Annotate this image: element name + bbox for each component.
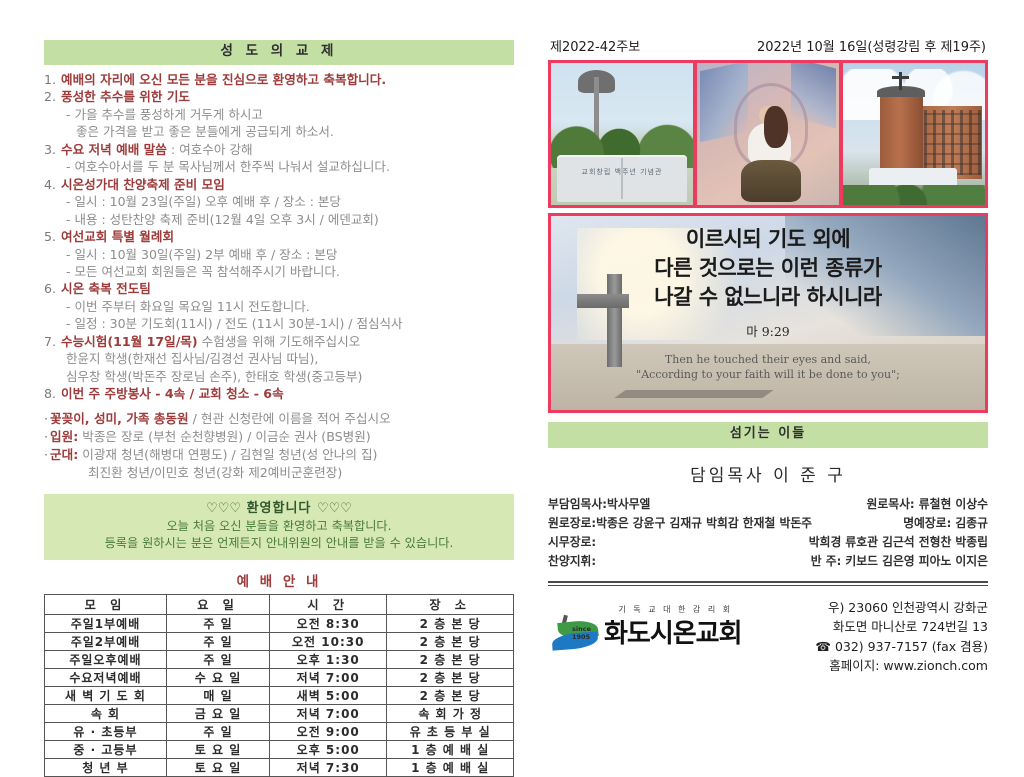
table-row: 주일오후예배 주 일 오후 1:30 2 층 본 당 (45, 650, 514, 668)
announcement-heading-tail: : 여호수아 강해 (167, 142, 253, 157)
announcement-heading: 풍성한 추수를 위한 기도 (61, 89, 190, 104)
announcement-subline: 심우창 학생(박돈주 장로님 손주), 한태호 학생(중고등부) (44, 368, 514, 385)
announcement-number: 2. (44, 88, 61, 106)
cell-time: 저녁 7:00 (270, 668, 387, 686)
announcement-item-6: 6.시온 축복 전도팀 (44, 280, 514, 298)
announcement-item-7: 7.수능시험(11월 17일/목) 수험생을 위해 기도해주십시오 (44, 333, 514, 351)
address-line-2: 화도면 마니산로 724번길 13 (773, 617, 988, 637)
logo-main: since 1905 화도시온교회 (548, 615, 773, 653)
cell-day: 주 일 (166, 650, 269, 668)
staff-value: 김종규 (951, 516, 988, 530)
church-building-photo (843, 63, 985, 205)
verse-banner: 이르시되 기도 외에 다른 것으로는 이런 종류가 나갈 수 없느니라 하시니라… (548, 213, 988, 413)
cell-place: 2 층 본 당 (387, 614, 514, 632)
bullet-dot-icon: · (44, 429, 48, 444)
logo-mark-icon: since 1905 (548, 615, 604, 653)
bulletin-issue-number: 제2022-42주보 (550, 36, 640, 55)
left-column: 성 도 의 교 제 1.예배의 자리에 오신 모든 분을 진심으로 환영하고 축… (44, 40, 514, 777)
cell-time: 오후 5:00 (270, 740, 387, 758)
column-header-place: 장 소 (387, 594, 514, 614)
table-row: 새 벽 기 도 회 매 일 새벽 5:00 2 층 본 당 (45, 686, 514, 704)
cell-place: 2 층 본 당 (387, 632, 514, 650)
announcement-subline: - 여호수아서를 두 분 목사님께서 한주씩 나눠서 설교하십니다. (44, 158, 514, 175)
cell-time: 저녁 7:00 (270, 704, 387, 722)
announcement-item-2: 2.풍성한 추수를 위한 기도 (44, 88, 514, 106)
phone-line: ☎ 032) 937-7157 (fax 겸용) (773, 637, 988, 657)
table-row: 속 회 금 요 일 저녁 7:00 속 회 가 정 (45, 704, 514, 722)
cross-shadow-shape (615, 390, 774, 398)
welcome-line-2: 등록을 원하시는 분은 언제든지 안내위원의 안내를 받을 수 있습니다. (44, 535, 514, 553)
cell-meeting: 새 벽 기 도 회 (45, 686, 167, 704)
prayer-request-bullets: ·꽃꽂이, 성미, 가족 총동원 / 현관 신청란에 이름을 적어 주십시오 ·… (44, 410, 514, 482)
announcement-number: 7. (44, 333, 61, 351)
senior-pastor-line: 담임목사 이 준 구 (548, 461, 988, 486)
church-windows-shape (924, 110, 981, 175)
verse-line-2: 다른 것으로는 이런 종류가 (551, 253, 985, 282)
table-row: 수요저녁예배 수 요 일 저녁 7:00 2 층 본 당 (45, 668, 514, 686)
table-row: 중 · 고등부 토 요 일 오후 5:00 1 층 예 배 실 (45, 740, 514, 758)
staff-label: 시무장로: (548, 533, 809, 552)
announcement-heading: 수요 저녁 예배 말씀 (61, 142, 167, 157)
announcement-number: 4. (44, 176, 61, 194)
announcement-subline: - 모든 여선교회 회원들은 꼭 참석해주시기 바랍니다. (44, 263, 514, 280)
announcement-subline: 한윤지 학생(한재선 집사님/김경선 권사님 따님), (44, 350, 514, 367)
staff-value: 류철현 이상수 (915, 497, 988, 511)
welcome-title-text: 환영합니다 (247, 501, 312, 516)
column-header-time: 시 간 (270, 594, 387, 614)
staff-label: 원로장로: (548, 514, 596, 533)
announcement-subline: - 일시 : 10월 23일(주일) 오후 예배 후 / 장소 : 본당 (44, 193, 514, 210)
cell-place: 2 층 본 당 (387, 668, 514, 686)
cell-place: 속 회 가 정 (387, 704, 514, 722)
cell-time: 오전 10:30 (270, 632, 387, 650)
address-line-1: 우) 23060 인천광역시 강화군 (773, 598, 988, 618)
announcement-item-5: 5.여선교회 특별 월례회 (44, 228, 514, 246)
announcement-number: 6. (44, 280, 61, 298)
bullet-continuation: 최진환 청년/이민호 청년(강화 제2예비군훈련장) (44, 464, 514, 482)
bullet-item-military: ·군대: 이광재 청년(해병대 연평도) / 김현일 청년(성 안나의 집) (44, 446, 514, 464)
announcement-heading: 시온 축복 전도팀 (61, 281, 151, 296)
announcement-heading: 이번 주 주방봉사 - 4속 / 교회 청소 - 6속 (61, 386, 284, 401)
announcement-item-8: 8.이번 주 주방봉사 - 4속 / 교회 청소 - 6속 (44, 385, 514, 403)
praying-woman-photo (697, 63, 839, 205)
verse-english-2: "According to your faith will it be done… (551, 367, 985, 382)
bullet-item-hospitalized: ·입원: 박종은 장로 (부천 순천향병원) / 이금순 권사 (BS병원) (44, 428, 514, 446)
announcement-subline: - 일정 : 30분 기도회(11시) / 전도 (11시 30분-1시) / … (44, 315, 514, 332)
column-header-day: 요 일 (166, 594, 269, 614)
announcement-number: 8. (44, 385, 61, 403)
church-logo: 기 독 교 대 한 감 리 회 since 1905 화도시온교회 (548, 598, 773, 653)
verse-reference: 마 9:29 (551, 321, 985, 340)
table-row: 주일1부예배 주 일 오전 8:30 2 층 본 당 (45, 614, 514, 632)
bulletin-page: 성 도 의 교 제 1.예배의 자리에 오신 모든 분을 진심으로 환영하고 축… (0, 0, 1024, 724)
cell-meeting: 청 년 부 (45, 758, 167, 776)
staff-label-secondary: 원로목사: 류철현 이상수 (867, 495, 988, 514)
monument-photo: 교회창립 백주년 기념관 (551, 63, 693, 205)
staff-label: 반 주: (811, 554, 842, 568)
column-header-meeting: 모 임 (45, 594, 167, 614)
cell-day: 토 요 일 (166, 740, 269, 758)
verse-text-block: 이르시되 기도 외에 다른 것으로는 이런 종류가 나갈 수 없느니라 하시니라… (551, 224, 985, 382)
heart-icon-right: ♡♡♡ (317, 501, 352, 516)
bullet-label: 꽃꽂이, 성미, 가족 총동원 (50, 411, 189, 426)
bullet-label: 군대: (50, 447, 78, 462)
cell-place: 유 초 등 부 실 (387, 722, 514, 740)
cell-place: 2 층 본 당 (387, 686, 514, 704)
bullet-dot-icon: · (44, 411, 48, 426)
staff-label: 명예장로: (903, 516, 951, 530)
cell-place: 1 층 예 배 실 (387, 758, 514, 776)
servants-section: 섬기는 이들 담임목사 이 준 구 부담임목사: 박사무엘 원로목사: 류철현 … (548, 422, 988, 586)
contact-info: 우) 23060 인천광역시 강화군 화도면 마니산로 724번길 13 ☎ 0… (773, 598, 988, 676)
announcement-subline: 좋은 가격을 받고 좋은 분들에게 공급되게 하소서. (44, 123, 514, 140)
staff-label-secondary: 명예장로: 김종규 (899, 514, 988, 533)
bulletin-date: 2022년 10월 16일(성령강림 후 제19주) (757, 36, 986, 55)
cross-icon (899, 72, 902, 90)
denomination-label: 기 독 교 대 한 감 리 회 (578, 604, 773, 615)
cell-time: 오후 1:30 (270, 650, 387, 668)
cell-day: 주 일 (166, 614, 269, 632)
church-tower-shape (880, 91, 923, 179)
announcement-subline: - 가을 추수를 풍성하게 거두게 하시고 (44, 106, 514, 123)
since-label: since 1905 (572, 625, 604, 641)
table-row: 주일2부예배 주 일 오전 10:30 2 층 본 당 (45, 632, 514, 650)
cell-day: 토 요 일 (166, 758, 269, 776)
cell-meeting: 속 회 (45, 704, 167, 722)
church-name: 화도시온교회 (604, 621, 742, 647)
bullet-text: 이광재 청년(해병대 연평도) / 김현일 청년(성 안나의 집) (78, 447, 377, 462)
cell-meeting: 주일오후예배 (45, 650, 167, 668)
welcome-title: ♡♡♡ 환영합니다 ♡♡♡ (44, 500, 514, 518)
verse-line-1: 이르시되 기도 외에 (551, 224, 985, 253)
bushes-shape (843, 185, 985, 205)
cell-meeting: 주일1부예배 (45, 614, 167, 632)
table-row: 청 년 부 토 요 일 저녁 7:30 1 층 예 배 실 (45, 758, 514, 776)
open-book-monument-shape: 교회창립 백주년 기념관 (557, 155, 688, 202)
phone-icon: ☎ (815, 639, 831, 654)
staff-value: 키보드 김은영 피아노 이지은 (841, 554, 988, 568)
announcement-heading: 예배의 자리에 오신 모든 분을 진심으로 환영하고 축복합니다. (61, 72, 386, 87)
announcement-number: 1. (44, 71, 61, 89)
bullet-label: 입원: (50, 429, 78, 444)
photo-row: 교회창립 백주년 기념관 (548, 60, 988, 208)
right-column: 제2022-42주보 2022년 10월 16일(성령강림 후 제19주) 교회… (548, 36, 988, 676)
fellowship-section-header: 성 도 의 교 제 (44, 40, 514, 65)
staff-label: 부담임목사: (548, 495, 607, 514)
staff-value: 박종은 강윤구 김재규 박희감 한재철 박돈주 (596, 514, 812, 533)
cell-day: 주 일 (166, 632, 269, 650)
announcement-subline: - 일시 : 10월 30일(주일) 2부 예배 후 / 장소 : 본당 (44, 246, 514, 263)
cell-time: 저녁 7:30 (270, 758, 387, 776)
verse-line-3: 나갈 수 없느니라 하시니라 (551, 282, 985, 311)
footer: 기 독 교 대 한 감 리 회 since 1905 화도시온교회 우) 230… (548, 598, 988, 676)
cell-time: 오전 9:00 (270, 722, 387, 740)
staff-label: 찬양지휘: (548, 552, 596, 571)
staff-label: 원로목사: (867, 497, 915, 511)
announcement-heading: 수능시험(11월 17일/목) (61, 334, 198, 349)
staff-value: 박사무엘 (607, 495, 650, 514)
announcement-heading-tail: 수험생을 위해 기도해주십시오 (198, 334, 361, 349)
cell-place: 1 층 예 배 실 (387, 740, 514, 758)
announcement-subline: - 이번 주부터 화요일 목요일 11시 전도합니다. (44, 298, 514, 315)
staff-row-serving-elders: 시무장로: 박희경 류호관 김근석 전형찬 박종립 (548, 533, 988, 552)
worship-table-title: 예 배 안 내 (44, 570, 514, 590)
cell-time: 새벽 5:00 (270, 686, 387, 704)
announcement-number: 3. (44, 141, 61, 159)
announcement-list: 1.예배의 자리에 오신 모든 분을 진심으로 환영하고 축복합니다. 2.풍성… (44, 71, 514, 403)
monument-caption: 교회창립 백주년 기념관 (557, 167, 688, 177)
bullet-item-flowers: ·꽃꽂이, 성미, 가족 총동원 / 현관 신청란에 이름을 적어 주십시오 (44, 410, 514, 428)
staff-row-emeritus-elders: 원로장로: 박종은 강윤구 김재규 박희감 한재철 박돈주 명예장로: 김종규 (548, 514, 988, 533)
cell-meeting: 주일2부예배 (45, 632, 167, 650)
announcement-heading: 여선교회 특별 월례회 (61, 229, 174, 244)
table-row: 유 · 초등부 주 일 오전 9:00 유 초 등 부 실 (45, 722, 514, 740)
verse-english-1: Then he touched their eyes and said, (551, 352, 985, 367)
cell-day: 주 일 (166, 722, 269, 740)
worship-schedule-table: 모 임 요 일 시 간 장 소 주일1부예배 주 일 오전 8:30 2 층 본… (44, 594, 514, 777)
bullet-text: / 현관 신청란에 이름을 적어 주십시오 (189, 411, 391, 426)
heart-icon-left: ♡♡♡ (206, 501, 241, 516)
welcome-line-1: 오늘 처음 오신 분들을 환영하고 축복합니다. (44, 518, 514, 536)
cell-time: 오전 8:30 (270, 614, 387, 632)
staff-label-secondary: 반 주: 키보드 김은영 피아노 이지은 (811, 552, 988, 571)
announcement-subline: - 내용 : 성탄찬양 축제 준비(12월 4일 오후 3시 / 에덴교회) (44, 211, 514, 228)
figure-skirt-shape (741, 160, 801, 203)
cell-day: 매 일 (166, 686, 269, 704)
cell-day: 금 요 일 (166, 704, 269, 722)
announcement-item-1: 1.예배의 자리에 오신 모든 분을 진심으로 환영하고 축복합니다. (44, 71, 514, 89)
welcome-box: ♡♡♡ 환영합니다 ♡♡♡ 오늘 처음 오신 분들을 환영하고 축복합니다. 등… (44, 494, 514, 560)
footer-divider (548, 581, 988, 586)
cell-day: 수 요 일 (166, 668, 269, 686)
cell-meeting: 수요저녁예배 (45, 668, 167, 686)
cell-meeting: 유 · 초등부 (45, 722, 167, 740)
bullet-dot-icon: · (44, 447, 48, 462)
bulletin-meta: 제2022-42주보 2022년 10월 16일(성령강림 후 제19주) (548, 36, 988, 55)
staff-row-music: 찬양지휘: 반 주: 키보드 김은영 피아노 이지은 (548, 552, 988, 571)
cell-place: 2 층 본 당 (387, 650, 514, 668)
bullet-text: 박종은 장로 (부천 순천향병원) / 이금순 권사 (BS병원) (78, 429, 370, 444)
announcement-number: 5. (44, 228, 61, 246)
staff-value: 박희경 류호관 김근석 전형찬 박종립 (809, 533, 988, 552)
phone-number: 032) 937-7157 (fax 겸용) (831, 639, 988, 654)
announcement-heading: 시온성가대 찬양축제 준비 모임 (61, 177, 225, 192)
figure-hair-shape (764, 106, 788, 149)
announcement-item-3: 3.수요 저녁 예배 말씀 : 여호수아 강해 (44, 141, 514, 159)
table-header-row: 모 임 요 일 시 간 장 소 (45, 594, 514, 614)
homepage-line[interactable]: 홈페이지: www.zionch.com (773, 656, 988, 676)
announcement-item-4: 4.시온성가대 찬양축제 준비 모임 (44, 176, 514, 194)
staff-row-associate-pastor: 부담임목사: 박사무엘 원로목사: 류철현 이상수 (548, 495, 988, 514)
cell-meeting: 중 · 고등부 (45, 740, 167, 758)
servants-section-header: 섬기는 이들 (548, 422, 988, 448)
